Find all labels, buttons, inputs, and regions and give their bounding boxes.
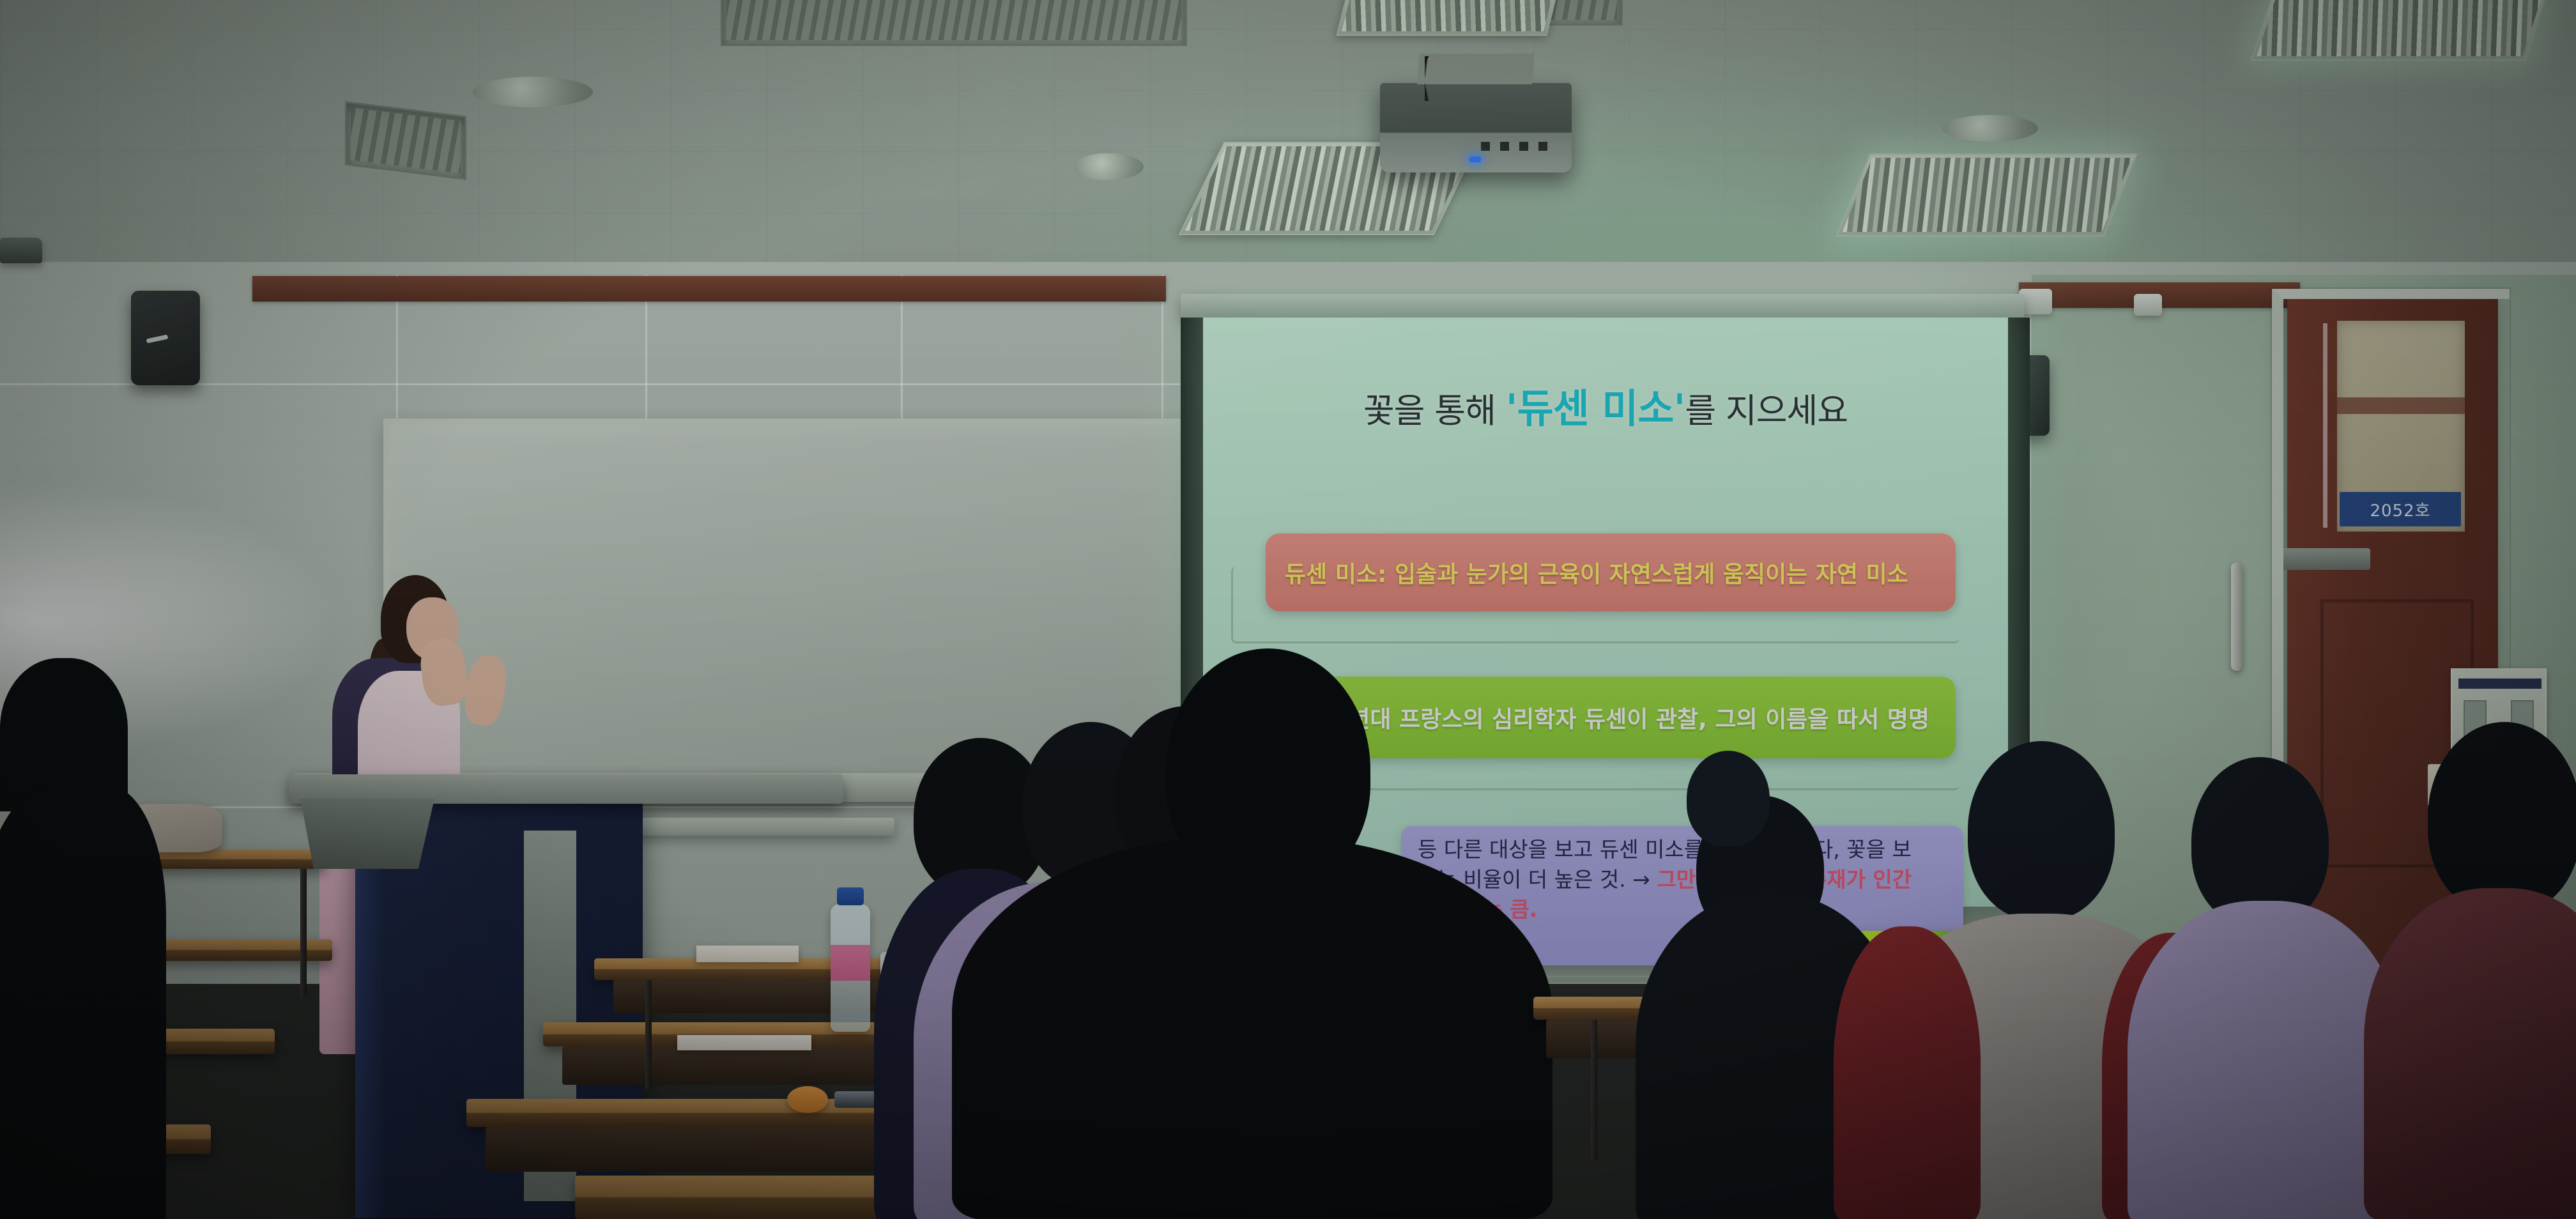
slide-title-prefix: 꽃을 통해 — [1363, 392, 1506, 431]
door-handle[interactable] — [2231, 562, 2242, 671]
audience-head-7 — [2428, 722, 2576, 914]
slide-title: 꽃을 통해 '듀센 미소'를 지으세요 — [1203, 376, 2008, 434]
ceiling-light-right — [1836, 153, 2138, 236]
audience-body-6-lavender — [2127, 901, 2402, 1219]
projector-power-led — [1469, 157, 1481, 162]
ceiling-light-far-right — [2251, 0, 2547, 61]
ceiling-vent-round-right — [1942, 115, 2038, 142]
slide-box-definition: 듀센 미소: 입술과 눈가의 근육이 자연스럽게 움직이는 자연 미소 — [1266, 533, 1956, 611]
audience-body-7 — [2364, 888, 2576, 1219]
desk-leg-2 — [300, 869, 307, 997]
audience-body-far-left — [0, 786, 166, 1219]
ceiling-vent-round-left — [473, 77, 593, 107]
water-bottle — [831, 904, 870, 1032]
audience-body-foreground — [952, 837, 1552, 1219]
audience-plaid-left — [1834, 926, 1981, 1219]
research-line-2: 짓는 비율이 더 높은 것. → 그만큼 꽃이라는 존재가 인간 — [1418, 865, 1947, 895]
bottle-cap — [837, 887, 864, 905]
lectern-shelf — [300, 799, 434, 869]
wall-speaker-left — [131, 291, 200, 385]
ceiling-light-top — [1336, 0, 1558, 36]
desk-leg-r1 — [1591, 1020, 1597, 1160]
audience-head-8 — [1687, 751, 1770, 847]
audience-head-5 — [1968, 741, 2115, 920]
lecture-hall-scene: 2052호 소화기 꽃을 통해 '듀센 미소'를 지으세요 듀센 미소: 입술 — [0, 0, 2576, 1219]
desk-leg-c1 — [645, 980, 652, 1089]
ceiling-projector — [1380, 83, 1572, 172]
ac-vent-center — [721, 0, 1187, 46]
control-panel-header — [2458, 678, 2541, 689]
projection-screen-housing — [1181, 294, 2024, 319]
bottle-label — [831, 945, 870, 981]
projector-ports — [1481, 142, 1558, 151]
slide-title-suffix: 를 지으세요 — [1685, 392, 1848, 431]
research-line-1: 등 다른 대상을 보고 듀센 미소를 짓는 비율보다, 꽃을 보 — [1418, 835, 1947, 865]
ceiling-speaker-round — [1073, 153, 1144, 180]
slide-title-highlight: '듀센 미소' — [1506, 385, 1685, 432]
papers-center-1 — [696, 946, 799, 962]
security-camera — [0, 238, 42, 263]
emergency-light — [2134, 294, 2162, 316]
slide-box-origin: 1800년대 프랑스의 심리학자 듀센이 관찰, 그의 이름을 따서 명명 — [1266, 677, 1956, 758]
projector-cables — [1425, 56, 1546, 101]
papers-center-2 — [677, 1035, 811, 1050]
wood-trim-left — [252, 276, 1166, 302]
tangerine-on-desk — [787, 1086, 828, 1113]
